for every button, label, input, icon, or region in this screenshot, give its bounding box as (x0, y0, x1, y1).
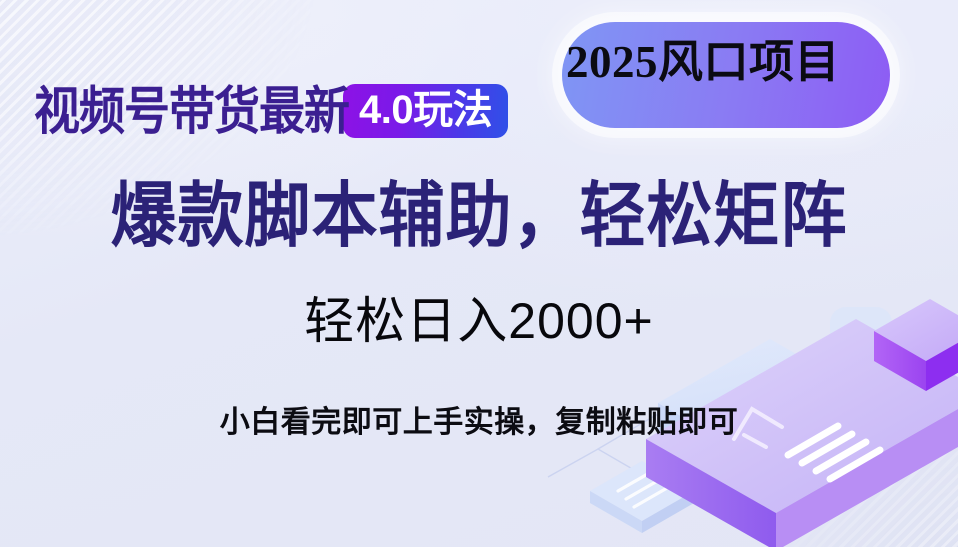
version-badge: 4.0玩法 (343, 84, 508, 138)
headline-pill-text: 2025风口项目 (566, 40, 958, 85)
tagline-row: 视频号带货最新 4.0玩法 (34, 84, 508, 138)
subtitle-text: 小白看完即可上手实操，复制粘贴即可 (0, 408, 958, 438)
main-headline: 爆款脚本辅助，轻松矩阵 (0, 179, 958, 250)
tagline-main-text: 视频号带货最新 (34, 85, 349, 137)
promo-poster: 2025风口项目 视频号带货最新 4.0玩法 爆款脚本辅助，轻松矩阵 轻松日入2… (0, 0, 958, 547)
income-headline: 轻松日入2000+ (0, 296, 958, 346)
